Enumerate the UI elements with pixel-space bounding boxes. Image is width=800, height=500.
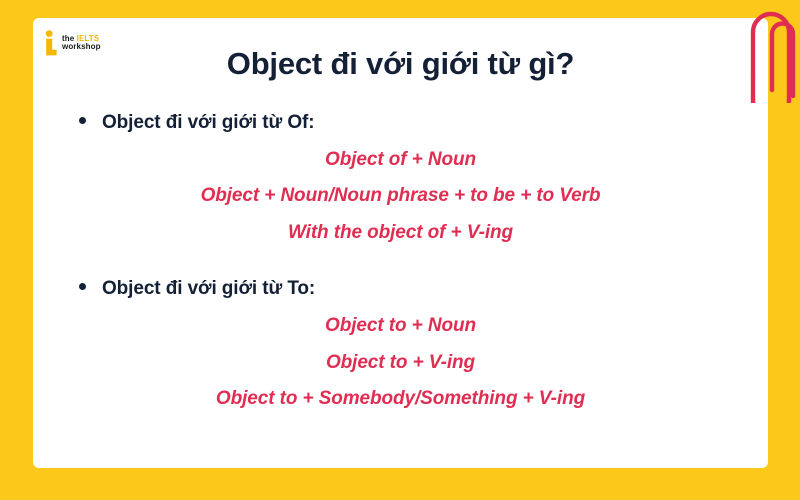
formula-to-1: Object to + Noun xyxy=(33,308,768,344)
formula-of-2: Object + Noun/Noun phrase + to be + to V… xyxy=(33,178,768,214)
bullet-item-to: Object đi với giới từ To: xyxy=(33,278,768,300)
formula-group-to: Object to + Noun Object to + V-ing Objec… xyxy=(33,308,768,417)
formula-to-2: Object to + V-ing xyxy=(33,345,768,381)
page-title: Object đi với giới từ gì? xyxy=(33,46,768,82)
formula-to-3: Object to + Somebody/Something + V-ing xyxy=(33,381,768,417)
formula-group-of: Object of + Noun Object + Noun/Noun phra… xyxy=(33,142,768,251)
bullet-item-of: Object đi với giới từ Of: xyxy=(33,112,768,134)
formula-of-1: Object of + Noun xyxy=(33,142,768,178)
bullet-label-of: Object đi với giới từ Of: xyxy=(102,112,314,134)
section-spacer xyxy=(33,265,768,278)
bullet-dot-icon xyxy=(79,117,86,124)
bullet-dot-icon xyxy=(79,283,86,290)
white-content-card: the IELTS workshop Object đi với giới từ… xyxy=(33,18,768,468)
slide-canvas: the IELTS workshop Object đi với giới từ… xyxy=(0,0,800,500)
bullet-label-to: Object đi với giới từ To: xyxy=(102,278,315,300)
content-body: Object đi với giới từ Of: Object of + No… xyxy=(33,112,768,432)
formula-of-3: With the object of + V-ing xyxy=(33,215,768,251)
